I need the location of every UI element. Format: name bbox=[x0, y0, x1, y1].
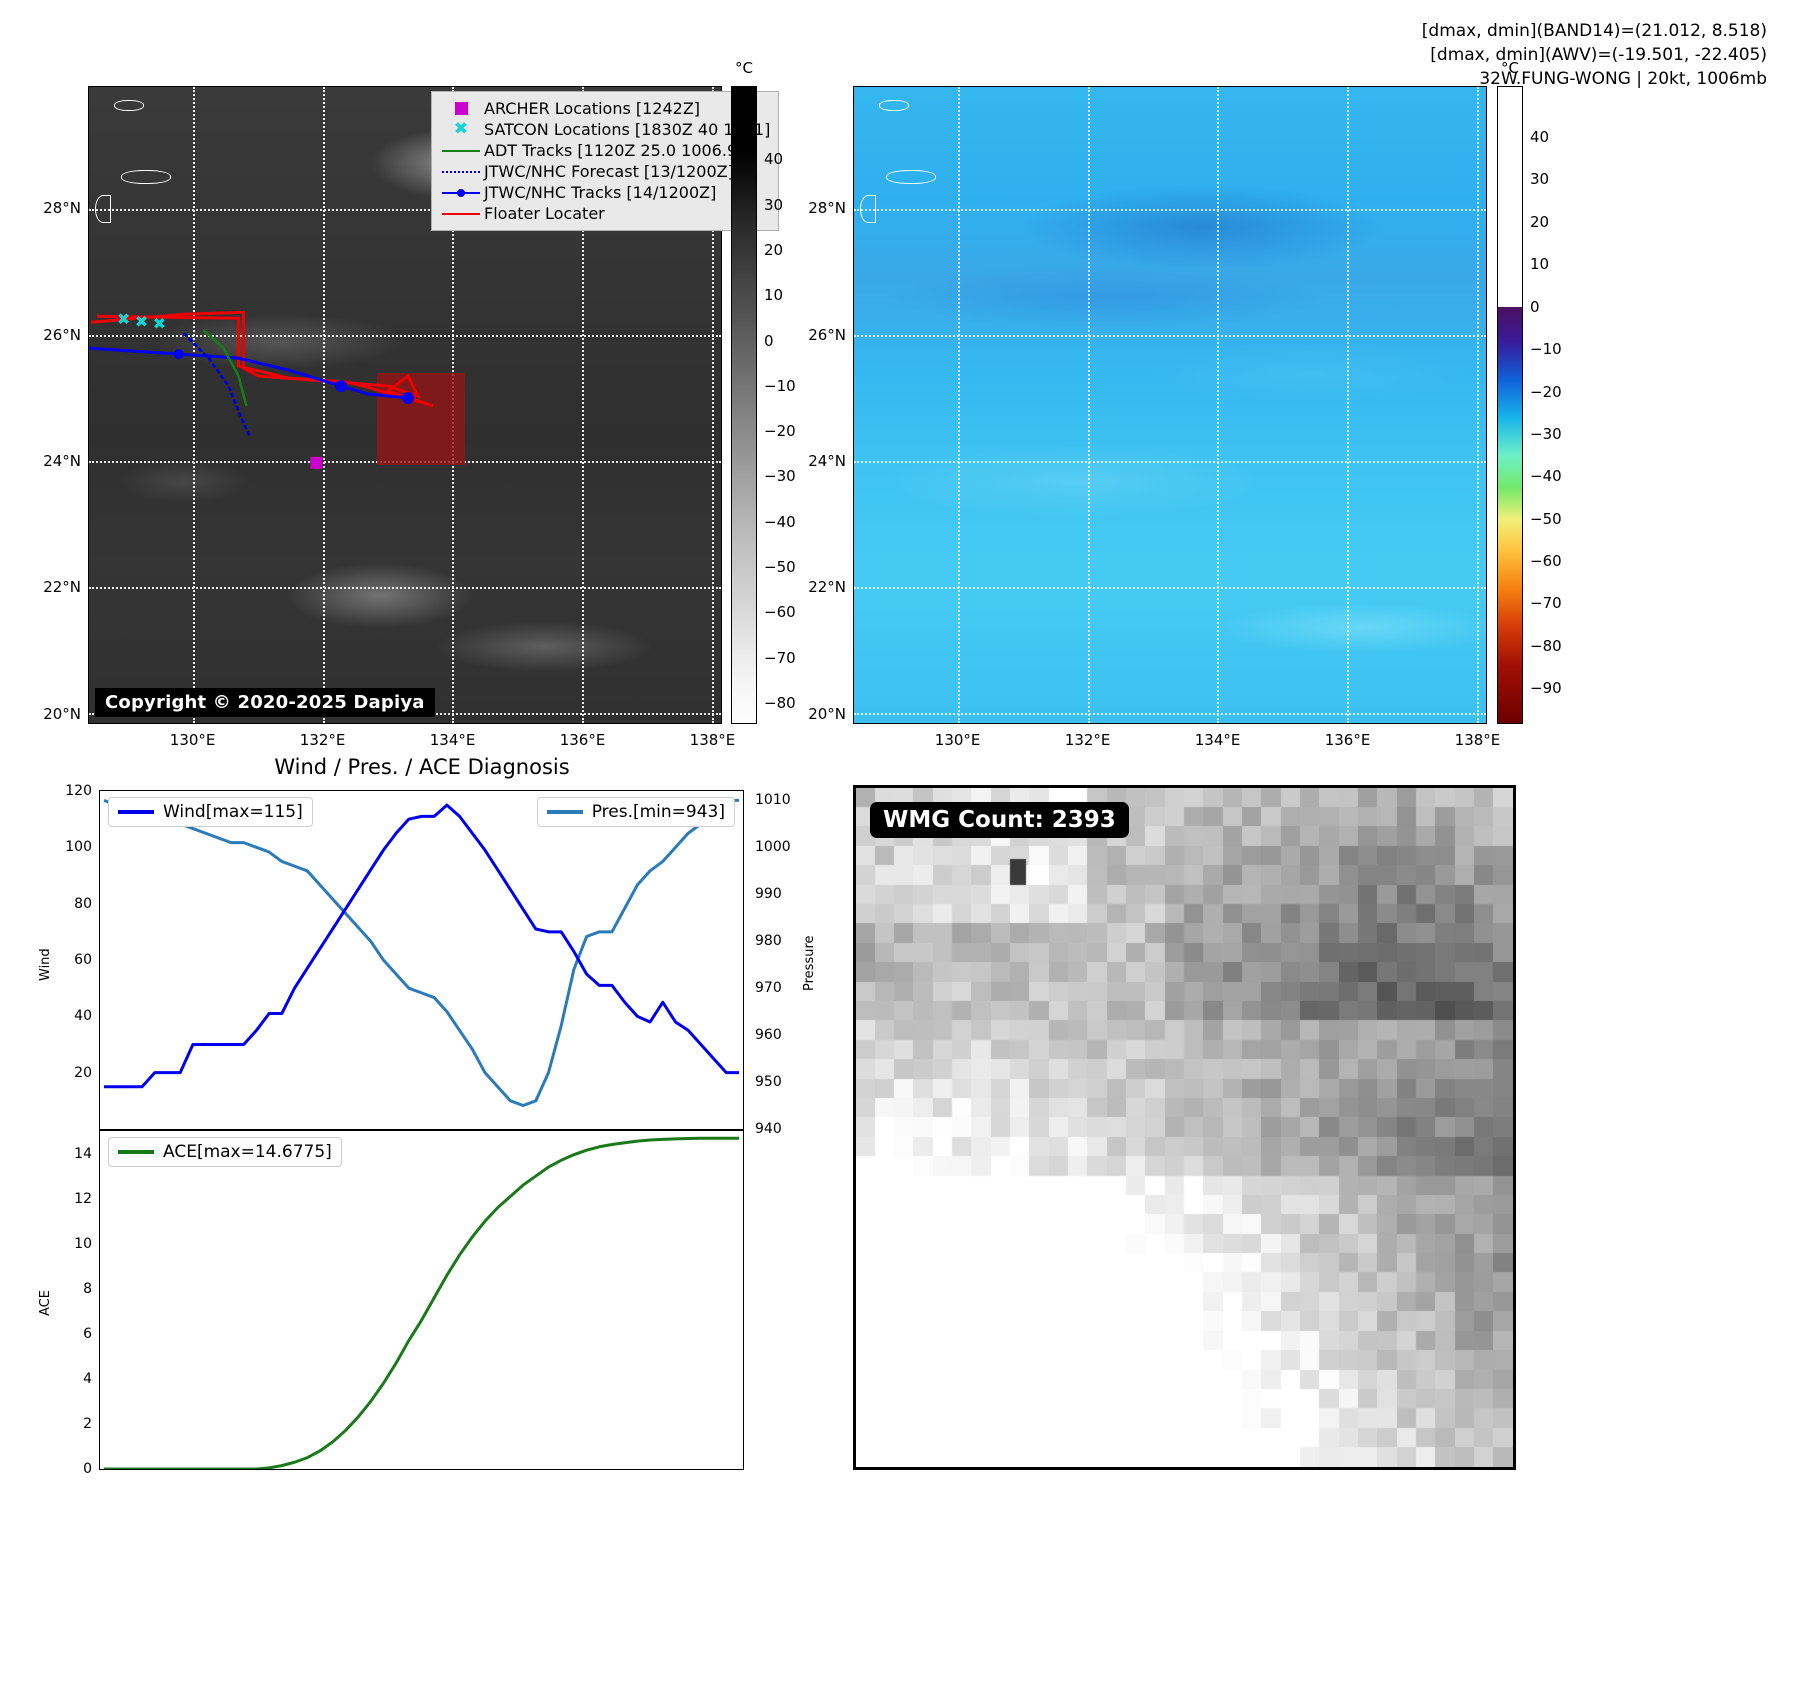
ir-cbar-tick: −60 bbox=[764, 603, 796, 621]
wind-ytick: 20 bbox=[54, 1065, 92, 1081]
legend-row-satcon: ✖ SATCON Locations [1830Z 40 1001] bbox=[438, 119, 770, 140]
legend-row-archer: ARCHER Locations [1242Z] bbox=[438, 98, 770, 119]
coastline-shape bbox=[879, 100, 909, 111]
ir-ytick: 20°N bbox=[26, 705, 81, 723]
cyan-x-icon: ✖ bbox=[438, 121, 484, 138]
ir-xtick: 134°E bbox=[430, 731, 476, 749]
ace-legend[interactable]: ACE[max=14.6775] bbox=[108, 1137, 342, 1167]
awv-xtick: 132°E bbox=[1065, 731, 1111, 749]
awv-cbar-tick: 10 bbox=[1530, 255, 1549, 273]
awv-cbar-tick: −70 bbox=[1530, 594, 1562, 612]
ace-ytick: 0 bbox=[54, 1461, 92, 1477]
jtwc-track-marker bbox=[174, 349, 184, 359]
awv-cbar-tick: 30 bbox=[1530, 170, 1549, 188]
pressure-legend[interactable]: Pres.[min=943] bbox=[537, 797, 735, 827]
awv-colorbar-gradient bbox=[1497, 86, 1523, 724]
adt-track bbox=[204, 330, 247, 406]
ace-legend-label: ACE[max=14.6775] bbox=[163, 1142, 332, 1162]
awv-cbar-tick: −20 bbox=[1530, 383, 1562, 401]
awv-xtick: 130°E bbox=[935, 731, 981, 749]
awv-ytick: 20°N bbox=[791, 705, 846, 723]
ace-axis-label: ACE bbox=[38, 1290, 53, 1316]
wind-ytick: 80 bbox=[54, 896, 92, 912]
ir-cbar-tick: −70 bbox=[764, 649, 796, 667]
awv-xtick: 136°E bbox=[1325, 731, 1371, 749]
jtwc-track-marker bbox=[402, 392, 414, 404]
pressure-line-icon bbox=[547, 810, 583, 814]
wind-ytick: 40 bbox=[54, 1008, 92, 1024]
pressure-ytick: 950 bbox=[755, 1074, 782, 1090]
ir-colorbar: °C 40 30 20 10 0 −10 −20 −30 −40 −50 −60… bbox=[731, 86, 757, 724]
ace-ytick: 4 bbox=[54, 1371, 92, 1387]
svg-text:✖: ✖ bbox=[117, 309, 130, 328]
ir-cbar-tick: 20 bbox=[764, 241, 783, 259]
ir-cbar-tick: 30 bbox=[764, 196, 783, 214]
wind-legend[interactable]: Wind[max=115] bbox=[108, 797, 313, 827]
ir-satellite-panel: ✖ ✖ ✖ Copyright © 2020-2025 Dapiya ARCHE… bbox=[88, 86, 722, 724]
awv-cbar-tick: 20 bbox=[1530, 213, 1549, 231]
ace-ytick: 2 bbox=[54, 1416, 92, 1432]
legend-label: ADT Tracks [1120Z 25.0 1006.9] bbox=[484, 141, 743, 160]
legend-row-tracks: JTWC/NHC Tracks [14/1200Z] bbox=[438, 182, 770, 203]
jtwc-track-marker bbox=[335, 380, 347, 392]
awv-colorbar-unit: °C bbox=[1501, 59, 1519, 77]
ace-ytick: 12 bbox=[54, 1191, 92, 1207]
ace-ytick: 6 bbox=[54, 1326, 92, 1342]
ir-ytick: 22°N bbox=[26, 578, 81, 596]
pressure-ytick: 960 bbox=[755, 1027, 782, 1043]
svg-text:✖: ✖ bbox=[135, 312, 148, 331]
wind-ytick: 60 bbox=[54, 952, 92, 968]
blue-line-marker-icon bbox=[438, 188, 484, 198]
ir-xtick: 136°E bbox=[560, 731, 606, 749]
pressure-ytick: 1000 bbox=[755, 839, 791, 855]
awv-cbar-tick: −80 bbox=[1530, 637, 1562, 655]
awv-cbar-tick: −50 bbox=[1530, 510, 1562, 528]
red-line-icon bbox=[438, 213, 484, 215]
awv-xtick: 134°E bbox=[1195, 731, 1241, 749]
legend-label: SATCON Locations [1830Z 40 1001] bbox=[484, 120, 770, 139]
ace-chart: ACE[max=14.6775] ACE 14 12 10 8 6 4 2 0 bbox=[99, 1130, 744, 1470]
awv-ytick: 22°N bbox=[791, 578, 846, 596]
legend-label: JTWC/NHC Forecast [13/1200Z] bbox=[484, 162, 734, 181]
ir-ytick: 24°N bbox=[26, 452, 81, 470]
ir-ytick: 28°N bbox=[26, 199, 81, 217]
ir-xtick: 132°E bbox=[300, 731, 346, 749]
magenta-square-icon bbox=[438, 102, 484, 115]
pressure-ytick: 980 bbox=[755, 933, 782, 949]
awv-cbar-tick: −10 bbox=[1530, 340, 1562, 358]
pressure-axis-label: Pressure bbox=[802, 935, 817, 991]
jtwc-track bbox=[89, 348, 408, 398]
ace-ytick: 8 bbox=[54, 1281, 92, 1297]
awv-cbar-tick: −60 bbox=[1530, 552, 1562, 570]
wind-ytick: 120 bbox=[54, 783, 92, 799]
pressure-ytick: 990 bbox=[755, 886, 782, 902]
pressure-ytick: 970 bbox=[755, 980, 782, 996]
coastline-shape bbox=[860, 195, 876, 223]
wmg-count-badge: WMG Count: 2393 bbox=[870, 802, 1129, 838]
awv-colorbar: °C 40 30 20 10 0 −10 −20 −30 −40 −50 −60… bbox=[1497, 86, 1523, 724]
ir-ytick: 26°N bbox=[26, 326, 81, 344]
ir-xtick: 138°E bbox=[690, 731, 736, 749]
ir-cbar-tick: −20 bbox=[764, 422, 796, 440]
satcon-locations: ✖ ✖ ✖ bbox=[117, 309, 166, 333]
awv-cbar-tick: −30 bbox=[1530, 425, 1562, 443]
wind-legend-label: Wind[max=115] bbox=[163, 802, 303, 822]
wind-line-icon bbox=[118, 810, 154, 814]
awv-ytick: 26°N bbox=[791, 326, 846, 344]
dmax-dmin-awv: [dmax, dmin](AWV)=(-19.501, -22.405) bbox=[1422, 44, 1767, 68]
awv-image bbox=[853, 86, 1487, 724]
ir-cbar-tick: −40 bbox=[764, 513, 796, 531]
wmg-pixel-image bbox=[856, 788, 1513, 1467]
pressure-ytick: 1010 bbox=[755, 792, 791, 808]
awv-cbar-tick: 0 bbox=[1530, 298, 1540, 316]
awv-ytick: 24°N bbox=[791, 452, 846, 470]
legend-row-adt: ADT Tracks [1120Z 25.0 1006.9] bbox=[438, 140, 770, 161]
blue-dotted-line-icon bbox=[438, 171, 484, 173]
diagnosis-title: Wind / Pres. / ACE Diagnosis bbox=[274, 755, 569, 779]
dmax-dmin-band14: [dmax, dmin](BAND14)=(21.012, 8.518) bbox=[1422, 20, 1767, 44]
wind-pressure-plot bbox=[100, 791, 743, 1129]
ace-line-icon bbox=[118, 1150, 154, 1154]
ir-xtick: 130°E bbox=[170, 731, 216, 749]
ir-cbar-tick: 40 bbox=[764, 150, 783, 168]
svg-text:✖: ✖ bbox=[153, 314, 166, 333]
legend-row-forecast: JTWC/NHC Forecast [13/1200Z] bbox=[438, 161, 770, 182]
ir-colorbar-gradient bbox=[731, 86, 757, 724]
wmg-zoom-panel: WMG Count: 2393 bbox=[853, 785, 1516, 1470]
awv-ytick: 28°N bbox=[791, 199, 846, 217]
ir-cbar-tick: 0 bbox=[764, 332, 774, 350]
legend-row-floater: Floater Locater bbox=[438, 203, 770, 224]
legend-label: JTWC/NHC Tracks [14/1200Z] bbox=[484, 183, 716, 202]
wind-pressure-chart: Wind[max=115] Pres.[min=943] Wind Pressu… bbox=[99, 790, 744, 1130]
map-legend[interactable]: ARCHER Locations [1242Z] ✖ SATCON Locati… bbox=[431, 91, 779, 231]
ir-cbar-tick: −10 bbox=[764, 377, 796, 395]
pressure-ytick: 940 bbox=[755, 1121, 782, 1137]
ace-plot bbox=[100, 1131, 743, 1469]
wind-ytick: 100 bbox=[54, 839, 92, 855]
awv-cbar-tick: 40 bbox=[1530, 128, 1549, 146]
metadata-block: [dmax, dmin](BAND14)=(21.012, 8.518) [dm… bbox=[1422, 20, 1767, 91]
awv-xtick: 138°E bbox=[1455, 731, 1501, 749]
awv-cbar-tick: −90 bbox=[1530, 679, 1562, 697]
pressure-legend-label: Pres.[min=943] bbox=[592, 802, 725, 822]
green-line-icon bbox=[438, 150, 484, 152]
legend-label: ARCHER Locations [1242Z] bbox=[484, 99, 700, 118]
archer-location-marker bbox=[310, 457, 322, 469]
ace-ytick: 10 bbox=[54, 1236, 92, 1252]
ace-ytick: 14 bbox=[54, 1146, 92, 1162]
coastline-shape bbox=[886, 170, 936, 184]
copyright-badge: Copyright © 2020-2025 Dapiya bbox=[95, 688, 435, 717]
dashboard-root: HIMAWARI-8 BAND14-DIAS FLOATER Time: 202… bbox=[0, 0, 1797, 1690]
wind-axis-label: Wind bbox=[38, 948, 53, 981]
ir-colorbar-unit: °C bbox=[735, 59, 753, 77]
legend-label: Floater Locater bbox=[484, 204, 605, 223]
ir-cbar-tick: −30 bbox=[764, 467, 796, 485]
awv-cbar-tick: −40 bbox=[1530, 467, 1562, 485]
ir-cbar-tick: −50 bbox=[764, 558, 796, 576]
ir-cbar-tick: 10 bbox=[764, 286, 783, 304]
awv-satellite-panel: 130°E 132°E 134°E 136°E 138°E 28°N 26°N … bbox=[853, 86, 1487, 724]
